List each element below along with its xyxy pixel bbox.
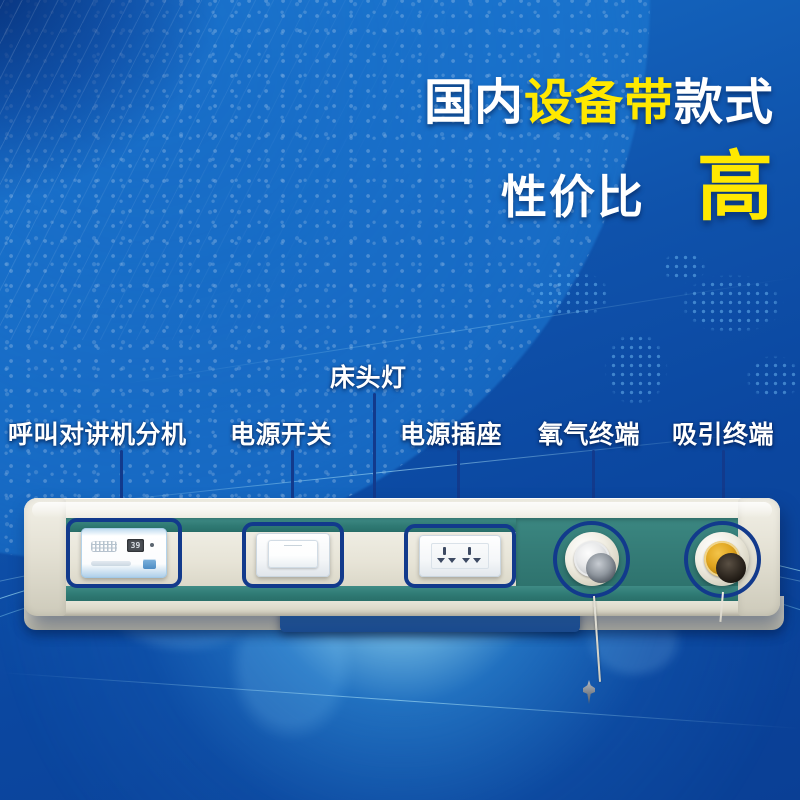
headline-line-2: 性价比 高	[0, 149, 774, 225]
headline-line2-text: 性价比	[501, 174, 645, 220]
callout-label-intercom: 呼叫对讲机分机	[8, 415, 187, 451]
callout-label-suction: 吸引终端	[672, 415, 774, 451]
headline-line1-prefix: 国内	[424, 74, 524, 131]
headline-line1-suffix: 款式	[674, 74, 774, 131]
callout-label-power-socket: 电源插座	[400, 415, 502, 451]
highlight-box-power-switch	[242, 522, 344, 588]
rail-highlight-gloss	[32, 502, 772, 518]
highlight-box-intercom	[66, 518, 182, 588]
highlight-circle-oxygen	[553, 521, 630, 598]
rail-stripe-bottom	[24, 586, 780, 601]
headline-line-1: 国内设备带款式	[0, 78, 774, 127]
callout-label-bed-lamp: 床头灯	[330, 358, 407, 394]
headline-block: 国内设备带款式 性价比 高	[0, 78, 774, 225]
product-banner: 国内设备带款式 性价比 高 呼叫对讲机分机 电源开关 床头灯 电源插座 氧气终端…	[0, 0, 800, 800]
headline-line2-highlight: 高	[697, 149, 774, 225]
callout-label-oxygen: 氧气终端	[538, 415, 640, 451]
highlight-circle-suction	[684, 521, 761, 598]
headline-line1-highlight: 设备带	[524, 74, 674, 131]
highlight-box-power-socket	[404, 524, 516, 588]
callout-label-power-switch: 电源开关	[230, 415, 332, 451]
